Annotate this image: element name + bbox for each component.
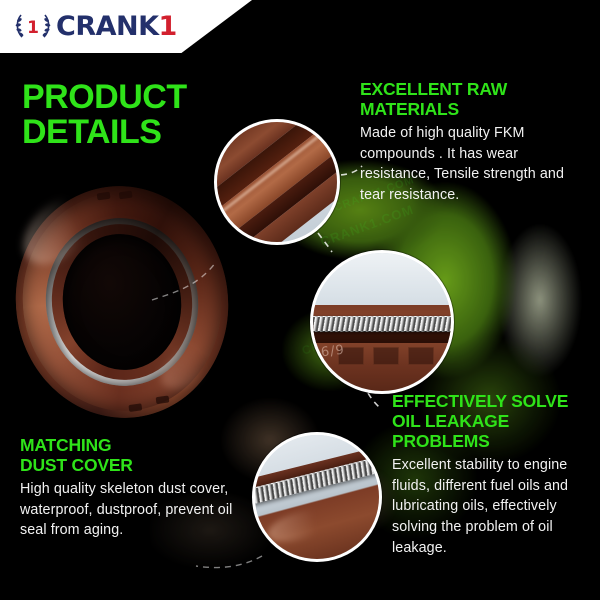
seal-size-marking: 6/9	[320, 343, 346, 361]
callout-oil-leakage-image[interactable]	[252, 432, 382, 562]
feature-heading-line1: EXCELLENT RAW	[360, 80, 588, 100]
callout-raw-materials-image[interactable]	[214, 119, 340, 245]
brand-name-accent: 1	[159, 11, 177, 42]
feature-body-text: Made of high quality FKM compounds . It …	[360, 123, 588, 206]
feature-dust-cover: MATCHING DUST COVER High quality skeleto…	[20, 436, 235, 541]
callout-background	[313, 253, 451, 308]
feature-heading-line1: EFFECTIVELY SOLVE	[392, 392, 592, 412]
feature-body-text: Excellent stability to engine fluids, di…	[392, 455, 592, 559]
brand-name-primary: CRANK	[56, 11, 159, 42]
laurel-wreath-icon: 1	[14, 9, 52, 43]
feature-heading-line2: DUST COVER	[20, 456, 235, 476]
product-oil-seal-image	[1, 172, 243, 431]
feature-heading-line2: MATERIALS	[360, 100, 588, 120]
feature-body-text: High quality skeleton dust cover, waterp…	[20, 479, 235, 541]
brand-logo[interactable]: 1 CRANK1	[14, 9, 177, 43]
emblem-number: 1	[27, 18, 39, 38]
feature-heading-line2: OIL LEAKAGE	[392, 412, 592, 432]
brand-wordmark: CRANK1	[56, 13, 177, 40]
seal-rubber-bands	[214, 119, 340, 245]
seal-molded-tabs	[338, 347, 435, 365]
feature-heading-line1: MATCHING	[20, 436, 235, 456]
feature-heading-line3: PROBLEMS	[392, 432, 592, 452]
page-title-line1: PRODUCT	[22, 80, 252, 115]
callout-garter-spring-image[interactable]: 6/9	[310, 250, 454, 394]
garter-spring-coil	[310, 316, 454, 331]
feature-raw-materials: EXCELLENT RAW MATERIALS Made of high qua…	[360, 80, 588, 206]
feature-oil-leakage: EFFECTIVELY SOLVE OIL LEAKAGE PROBLEMS E…	[392, 392, 592, 558]
